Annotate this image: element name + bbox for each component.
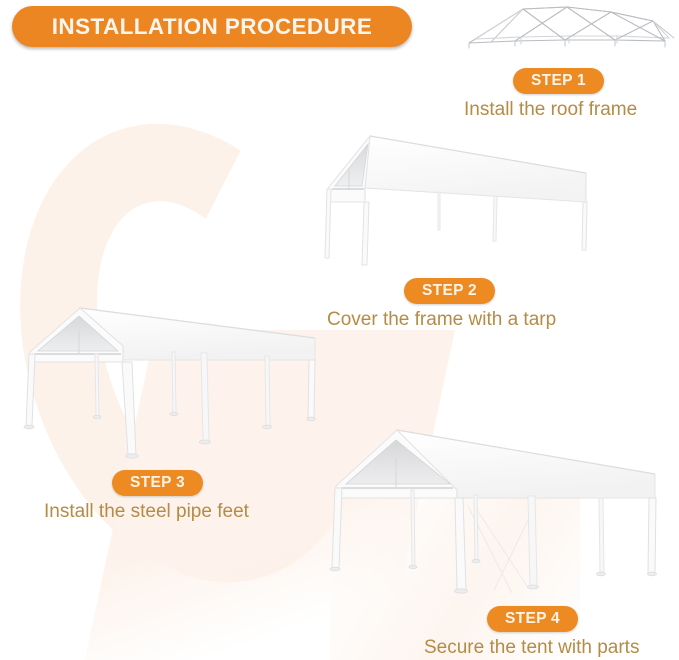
step-4-badge-label: STEP 4 — [505, 610, 560, 628]
step-4-illustration — [322, 418, 662, 603]
roof-frame-wireframe-icon — [455, 0, 679, 52]
step-2-badge-label: STEP 2 — [422, 282, 477, 300]
step-1-badge: STEP 1 — [513, 68, 604, 94]
step-4-caption: Secure the tent with parts — [424, 637, 639, 659]
step-2-caption: Cover the frame with a tarp — [327, 309, 556, 331]
step-3-caption: Install the steel pipe feet — [44, 501, 249, 523]
step-4-badge: STEP 4 — [487, 606, 578, 632]
canopy-with-guy-ropes-icon — [322, 418, 662, 603]
step-2-badge: STEP 2 — [404, 278, 495, 304]
step-1-illustration — [455, 0, 679, 52]
page-title-badge: INSTALLATION PROCEDURE — [12, 6, 412, 47]
step-3-illustration — [18, 298, 318, 468]
canopy-with-tarp-icon — [318, 118, 603, 268]
canopy-with-legs-and-feet-icon — [18, 298, 318, 468]
step-3-badge: STEP 3 — [112, 470, 203, 496]
step-2-illustration — [318, 118, 603, 268]
step-3-badge-label: STEP 3 — [130, 474, 185, 492]
step-1-badge-label: STEP 1 — [531, 72, 586, 90]
page-title: INSTALLATION PROCEDURE — [52, 14, 372, 40]
step-1-caption: Install the roof frame — [464, 99, 637, 121]
